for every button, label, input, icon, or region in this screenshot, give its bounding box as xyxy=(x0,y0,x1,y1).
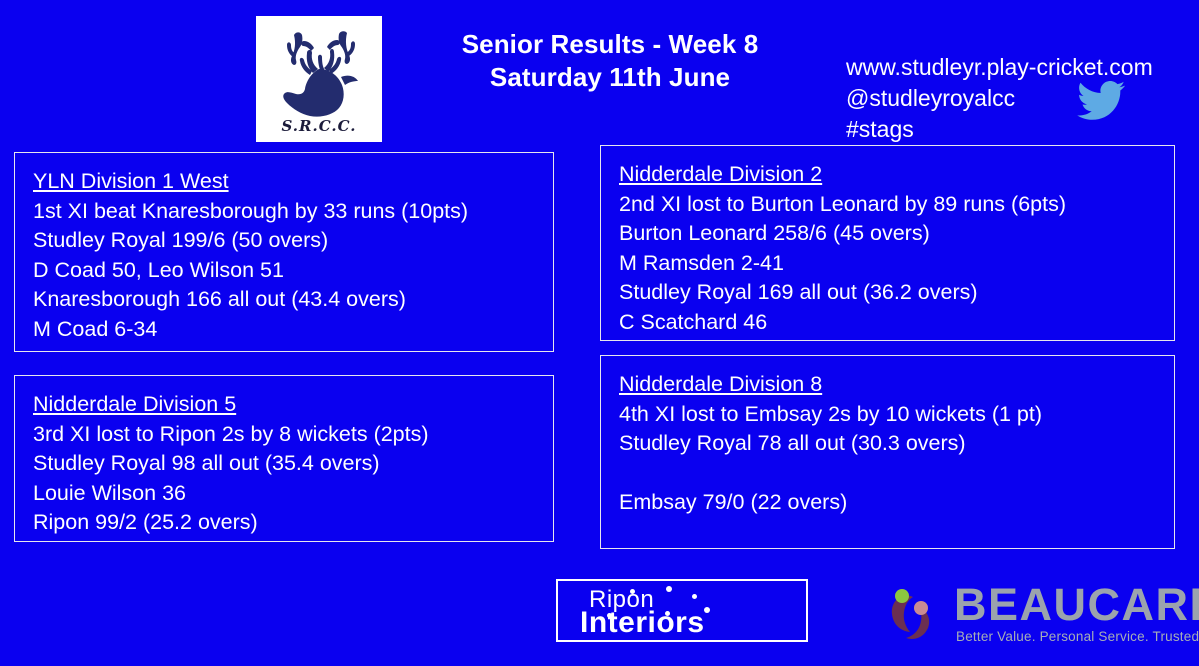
sponsor-ripon-line2: Interiors xyxy=(580,606,705,640)
result-box-nidd-div5: Nidderdale Division 5 3rd XI lost to Rip… xyxy=(14,375,554,542)
twitter-bird-icon[interactable] xyxy=(1076,80,1126,122)
decorative-dot xyxy=(704,607,710,613)
club-initials: S.R.C.C. xyxy=(281,117,356,135)
result-line: Knaresborough 166 all out (43.4 overs) xyxy=(33,285,553,315)
result-line: Studley Royal 98 all out (35.4 overs) xyxy=(33,449,553,479)
sponsor-beaucare-tagline: Better Value. Personal Service. Trusted … xyxy=(956,629,1199,644)
result-box-nidd-div2: Nidderdale Division 2 2nd XI lost to Bur… xyxy=(600,145,1175,341)
beaucare-circle-figures-icon xyxy=(869,574,949,654)
result-line: Burton Leonard 258/6 (45 overs) xyxy=(619,219,1174,249)
result-line: M Coad 6-34 xyxy=(33,315,553,345)
sponsor-ripon-interiors: Ripon Interiors xyxy=(556,579,808,642)
result-line: Louie Wilson 36 xyxy=(33,479,553,509)
result-line: C Scatchard 46 xyxy=(619,308,1174,338)
result-line-spacer xyxy=(619,459,1174,489)
result-line: Studley Royal 169 all out (36.2 overs) xyxy=(619,278,1174,308)
title-line-1: Senior Results - Week 8 xyxy=(400,28,820,61)
result-box-yln-div1west: YLN Division 1 West 1st XI beat Knaresbo… xyxy=(14,152,554,352)
result-heading: YLN Division 1 West xyxy=(33,167,553,197)
page-title: Senior Results - Week 8 Saturday 11th Ju… xyxy=(400,28,820,94)
result-heading: Nidderdale Division 5 xyxy=(33,390,553,420)
result-line: Embsay 79/0 (22 overs) xyxy=(619,488,1174,518)
title-line-2: Saturday 11th June xyxy=(400,61,820,94)
result-box-nidd-div8: Nidderdale Division 8 4th XI lost to Emb… xyxy=(600,355,1175,549)
result-heading: Nidderdale Division 8 xyxy=(619,370,1174,400)
result-line: Studley Royal 78 all out (30.3 overs) xyxy=(619,429,1174,459)
result-line: 3rd XI lost to Ripon 2s by 8 wickets (2p… xyxy=(33,420,553,450)
club-logo: S.R.C.C. xyxy=(256,16,382,142)
result-line: Ripon 99/2 (25.2 overs) xyxy=(33,508,553,538)
decorative-dot xyxy=(692,594,697,599)
stag-head-icon: S.R.C.C. xyxy=(263,23,375,135)
result-line: Studley Royal 199/6 (50 overs) xyxy=(33,226,553,256)
website-url[interactable]: www.studleyr.play-cricket.com xyxy=(846,52,1153,83)
result-heading: Nidderdale Division 2 xyxy=(619,160,1174,190)
sponsor-beaucare: BEAUCARE Better Value. Personal Service.… xyxy=(866,572,1199,656)
decorative-dot xyxy=(666,586,672,592)
sponsor-beaucare-name: BEAUCARE xyxy=(954,582,1199,628)
result-line: 1st XI beat Knaresborough by 33 runs (10… xyxy=(33,197,553,227)
result-line: 4th XI lost to Embsay 2s by 10 wickets (… xyxy=(619,400,1174,430)
result-line: M Ramsden 2-41 xyxy=(619,249,1174,279)
result-line: D Coad 50, Leo Wilson 51 xyxy=(33,256,553,286)
result-line: 2nd XI lost to Burton Leonard by 89 runs… xyxy=(619,190,1174,220)
